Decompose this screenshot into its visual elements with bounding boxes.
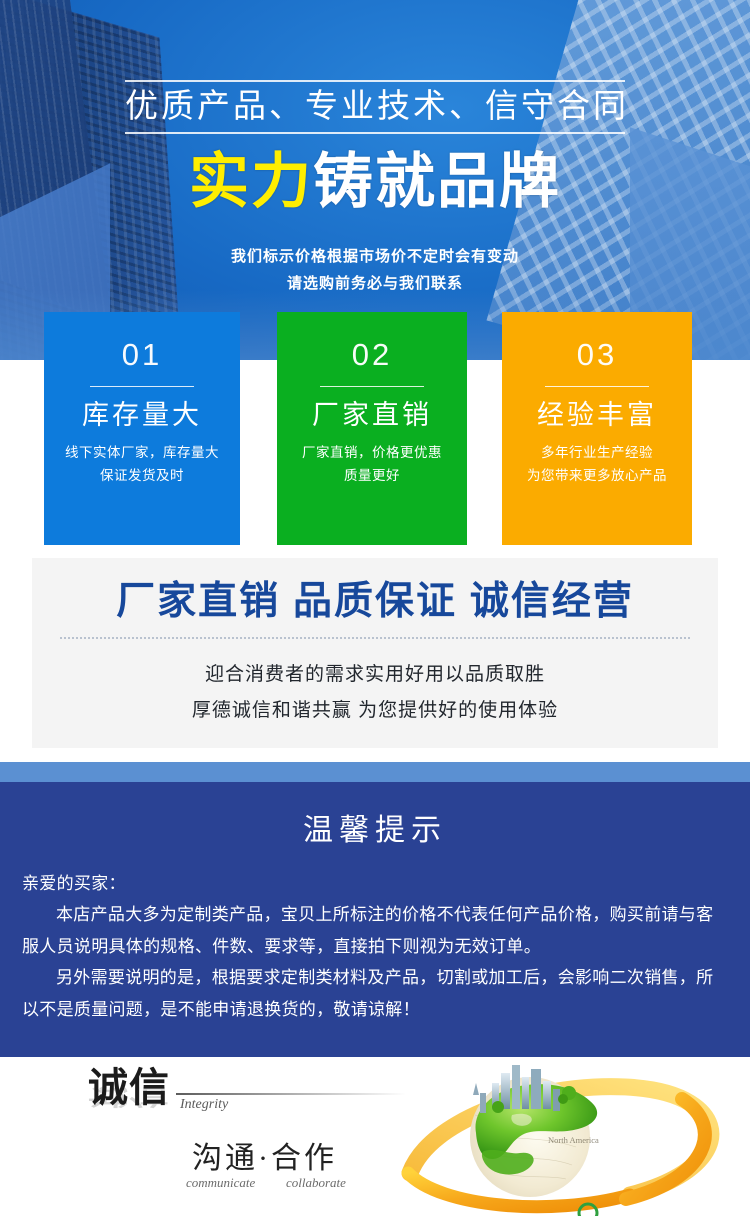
card-divider — [545, 386, 649, 387]
slogan-dotted-divider — [60, 637, 690, 639]
footer-banner: 诚信 诚信 Integrity 沟通·合作 communicate collab… — [0, 1055, 750, 1216]
collaborate-text-en: collaborate — [286, 1175, 346, 1191]
tips-paragraph-1: 本店产品大多为定制类产品，宝贝上所标注的价格不代表任何产品价格，购买前请与客服人… — [22, 899, 728, 962]
hero-slogan-white-part: 铸就品牌 — [313, 148, 561, 215]
card-title: 厂家直销 — [277, 401, 467, 431]
card-desc-line-1: 多年行业生产经验 — [502, 441, 692, 465]
hero-content: 优质产品、专业技术、信守合同 实力铸就品牌 我们标示价格根据市场价不定时会有变动… — [0, 0, 750, 360]
feature-cards: 01 库存量大 线下实体厂家，库存量大 保证发货及时 02 厂家直销 厂家直销，… — [0, 312, 750, 547]
white-gap-strip — [0, 748, 750, 762]
feature-card-01[interactable]: 01 库存量大 线下实体厂家，库存量大 保证发货及时 — [44, 312, 240, 545]
hero-banner: 优质产品、专业技术、信守合同 实力铸就品牌 我们标示价格根据市场价不定时会有变动… — [0, 0, 750, 360]
card-desc-line-2: 保证发货及时 — [44, 464, 240, 488]
hero-headline: 优质产品、专业技术、信守合同 — [125, 88, 625, 124]
tips-greeting: 亲爱的买家： — [22, 868, 728, 899]
card-title: 库存量大 — [44, 401, 240, 431]
promo-page: 优质产品、专业技术、信守合同 实力铸就品牌 我们标示价格根据市场价不定时会有变动… — [0, 0, 750, 1216]
card-number: 01 — [44, 339, 240, 370]
tips-body: 亲爱的买家： 本店产品大多为定制类产品，宝贝上所标注的价格不代表任何产品价格，购… — [0, 846, 750, 1025]
card-number: 03 — [502, 339, 692, 370]
hero-slogan-big: 实力铸就品牌 — [0, 152, 750, 212]
slogan-panel: 厂家直销 品质保证 诚信经营 迎合消费者的需求实用好用以品质取胜 厚德诚信和谐共… — [32, 558, 718, 748]
headline-rule-box: 优质产品、专业技术、信守合同 — [125, 80, 625, 134]
tips-section: 温馨提示 亲爱的买家： 本店产品大多为定制类产品，宝贝上所标注的价格不代表任何产… — [0, 782, 750, 1055]
green-globe-graphic: North America — [380, 1055, 750, 1216]
tips-paragraph-2: 另外需要说明的是，根据要求定制类材料及产品，切割或加工后，会影响二次销售，所以不… — [22, 962, 728, 1025]
hero-slogan-yellow-part: 实力 — [189, 148, 313, 215]
card-desc-line-2: 为您带来更多放心产品 — [502, 464, 692, 488]
feature-card-03[interactable]: 03 经验丰富 多年行业生产经验 为您带来更多放心产品 — [502, 312, 692, 545]
globe-region-label: North America — [548, 1135, 599, 1145]
slogan-sub-line-1: 迎合消费者的需求实用好用以品质取胜 — [32, 657, 718, 693]
card-divider — [320, 386, 424, 387]
card-divider — [90, 386, 194, 387]
card-desc-line-1: 厂家直销，价格更优惠 — [277, 441, 467, 465]
communicate-collaborate-cn: 沟通·合作 — [192, 1133, 337, 1177]
card-desc-line-2: 质量更好 — [277, 464, 467, 488]
slogan-sub-line-2: 厚德诚信和谐共赢 为您提供好的使用体验 — [32, 693, 718, 729]
hero-subline-2: 请选购前务必与我们联系 — [0, 272, 750, 293]
slogan-main: 厂家直销 品质保证 诚信经营 — [32, 558, 718, 625]
hero-subline-1: 我们标示价格根据市场价不定时会有变动 — [0, 245, 750, 266]
tips-title: 温馨提示 — [0, 782, 750, 846]
globe-svg: North America — [380, 1055, 750, 1216]
card-title: 经验丰富 — [502, 401, 692, 431]
feature-card-02[interactable]: 02 厂家直销 厂家直销，价格更优惠 质量更好 — [277, 312, 467, 545]
card-desc-line-1: 线下实体厂家，库存量大 — [44, 441, 240, 465]
footer-horizontal-rule — [176, 1093, 406, 1095]
card-number: 02 — [277, 339, 467, 370]
integrity-text-en: Integrity — [180, 1097, 228, 1113]
communicate-text-en: communicate — [186, 1175, 255, 1191]
integrity-text-cn: 诚信 — [88, 1068, 170, 1108]
